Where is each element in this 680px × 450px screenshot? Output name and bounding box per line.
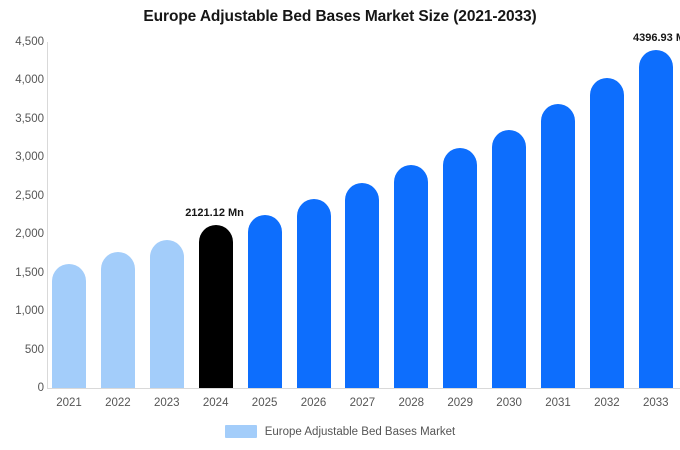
annotations-layer: 2121.12 Mn4396.93 Mn <box>0 0 680 450</box>
chart-legend: Europe Adjustable Bed Bases Market <box>0 425 680 438</box>
legend-label-europe-adjustable-bed-bases-market: Europe Adjustable Bed Bases Market <box>265 426 456 438</box>
bar-value-label-2033: 4396.93 Mn <box>633 32 680 44</box>
bar-value-label-2024: 2121.12 Mn <box>185 207 244 219</box>
plot-area: 05001,0001,5002,0002,5003,0003,5004,0004… <box>0 0 680 450</box>
legend-swatch-europe-adjustable-bed-bases-market <box>225 425 257 438</box>
chart-container: Europe Adjustable Bed Bases Market Size … <box>0 0 680 450</box>
